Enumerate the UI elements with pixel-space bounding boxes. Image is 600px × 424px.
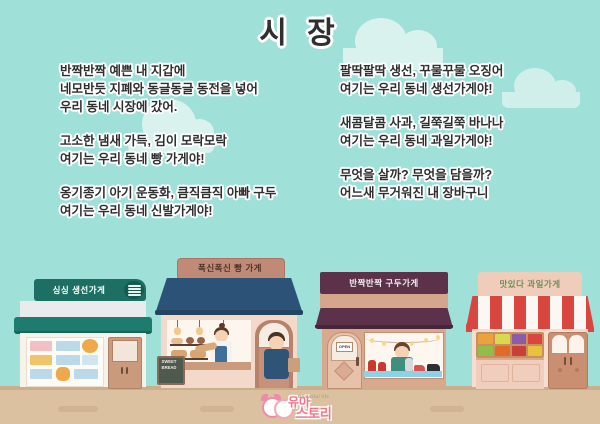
verse-line: 무엇을 살까? 무엇을 담을까?	[340, 166, 590, 184]
fish-shop-door-glass	[112, 340, 138, 362]
customer-head	[269, 336, 284, 350]
shop-fish[interactable]: 싱싱 생선가게	[8, 279, 148, 387]
lamp-icon	[196, 327, 203, 335]
cupcake-icon	[186, 337, 194, 344]
cupcake-icon	[197, 337, 205, 344]
brand-logo: 유아 스토리 Beautiful life	[262, 394, 356, 420]
logo-word-secondary: 스토리	[296, 403, 332, 422]
squid-icon	[56, 367, 70, 381]
verse-line: 새콤달콤 사과, 길쭉길쭉 바나나	[340, 114, 590, 132]
bread-icon	[171, 338, 183, 344]
door-handle[interactable]	[570, 357, 572, 365]
shop-bakery[interactable]: 폭신폭신 빵 가게 SWEET BREAD	[155, 258, 303, 388]
fish-tray	[30, 355, 52, 365]
verse-line: 여기는 우리 동네 과일가게야!	[340, 132, 590, 150]
shoe-shop-sign-text: 반짝반짝 구두가게	[320, 272, 448, 294]
verse-line: 반짝반짝 예쁜 내 지갑에	[60, 62, 350, 80]
verse-line: 어느새 무거워진 내 장바구니	[340, 184, 590, 202]
door-handle[interactable]	[356, 357, 359, 366]
verse-line: 여기는 우리 동네 신발가게야!	[60, 202, 350, 220]
baker-apron	[215, 346, 227, 363]
fish-tray	[56, 355, 80, 365]
crab-icon	[82, 339, 98, 353]
string-light-icon	[436, 335, 440, 340]
fruit-crate	[528, 346, 542, 356]
verse-line: 우리 동네 시장에 갔어.	[60, 98, 350, 116]
verse-stanza: 무엇을 살까? 무엇을 담을까? 어느새 무거워진 내 장바구니	[340, 166, 590, 202]
verse-line: 고소한 냄새 가득, 김이 모락모락	[60, 132, 350, 150]
shop-shoe[interactable]: 반짝반짝 구두가게 OPEN	[310, 272, 458, 387]
bakery-sign-text: 폭신폭신 빵 가게	[177, 258, 283, 278]
verse-stanza: 고소한 냄새 가득, 김이 모락모락 여기는 우리 동네 빵 가게야!	[60, 132, 350, 168]
fruit-crate	[528, 334, 542, 344]
ground-marking	[200, 406, 234, 412]
verse-stanza: 옹기종기 아기 운동화, 큼직큼직 아빠 구두 여기는 우리 동네 신발가게야!	[60, 184, 350, 220]
customer-body	[264, 349, 289, 379]
verse-column-left: 반짝반짝 예쁜 내 지갑에 네모반듯 지폐와 동글동글 동전을 넣어 우리 동네…	[60, 62, 350, 236]
shoe-icon	[405, 358, 413, 372]
chalkboard-text: SWEET BREAD	[157, 359, 181, 371]
string-light-icon	[370, 338, 374, 343]
stand-panel	[512, 364, 540, 382]
poster-canvas: 시 장 반짝반짝 예쁜 내 지갑에 네모반듯 지폐와 동글동글 동전을 넣어 우…	[0, 0, 600, 424]
fish-tray	[56, 341, 80, 351]
fruit-shop-door-glass	[552, 335, 567, 353]
shoe-shop-facade-upper	[320, 294, 448, 308]
logo-subtitle: Beautiful life	[298, 394, 329, 399]
string-light-icon	[424, 338, 428, 343]
door-knob[interactable]	[558, 368, 562, 372]
fish-shop-sign-text: 싱싱 생선가게	[38, 281, 120, 299]
fruit-shop-sign-text: 맛있다 과일가게	[478, 272, 582, 296]
fish-tray	[30, 341, 52, 351]
door-handle[interactable]	[121, 367, 123, 374]
ground-marking	[58, 406, 98, 412]
fruit-crate	[478, 334, 493, 344]
verse-line: 여기는 우리 동네 빵 가게야!	[60, 150, 350, 168]
fruit-shop-door-glass	[569, 335, 584, 353]
fruit-crate	[512, 346, 526, 356]
verse-stanza: 반짝반짝 예쁜 내 지갑에 네모반듯 지폐와 동글동글 동전을 넣어 우리 동네…	[60, 62, 350, 116]
fish-tray	[30, 369, 52, 379]
stand-panel	[481, 364, 509, 382]
string-light-icon	[382, 341, 386, 346]
fish-tray	[82, 355, 98, 365]
verse-stanza: 새콤달콤 사과, 길쭉길쭉 바나나 여기는 우리 동네 과일가게야!	[340, 114, 590, 150]
door-handle[interactable]	[564, 357, 566, 365]
fruit-crate	[495, 334, 510, 344]
lamp-icon	[174, 327, 181, 335]
bakery-roof	[155, 278, 303, 314]
verse-line: 네모반듯 지폐와 동글동글 동전을 넣어	[60, 80, 350, 98]
verse-stanza: 팔딱팔딱 생선, 꾸물꾸물 오징어 여기는 우리 동네 생선가게야!	[340, 62, 590, 98]
shoe-shop-display-floor	[364, 371, 442, 377]
fruit-crate	[478, 346, 493, 356]
shop-fruit[interactable]: 맛있다 과일가게	[466, 272, 594, 387]
verse-line: 옹기종기 아기 운동화, 큼직큼직 아빠 구두	[60, 184, 350, 202]
open-sign: OPEN	[336, 342, 353, 352]
shopping-bag-icon	[288, 358, 300, 372]
fish-icon	[124, 281, 144, 299]
door-handle[interactable]	[126, 367, 128, 374]
verse-line: 팔딱팔딱 생선, 꾸물꾸물 오징어	[340, 62, 590, 80]
page-title: 시 장	[0, 8, 600, 52]
fruit-crate	[495, 346, 510, 356]
fish-tray	[74, 369, 98, 379]
ground-marking	[430, 406, 464, 412]
fruit-crate	[512, 334, 526, 344]
fish-shop-facade-upper	[20, 301, 146, 317]
verse-column-right: 팔딱팔딱 생선, 꾸물꾸물 오징어 여기는 우리 동네 생선가게야! 새콤달콤 …	[340, 62, 590, 218]
verse-line: 여기는 우리 동네 생선가게야!	[340, 80, 590, 98]
string-light-icon	[410, 341, 414, 346]
door-knob[interactable]	[575, 368, 579, 372]
